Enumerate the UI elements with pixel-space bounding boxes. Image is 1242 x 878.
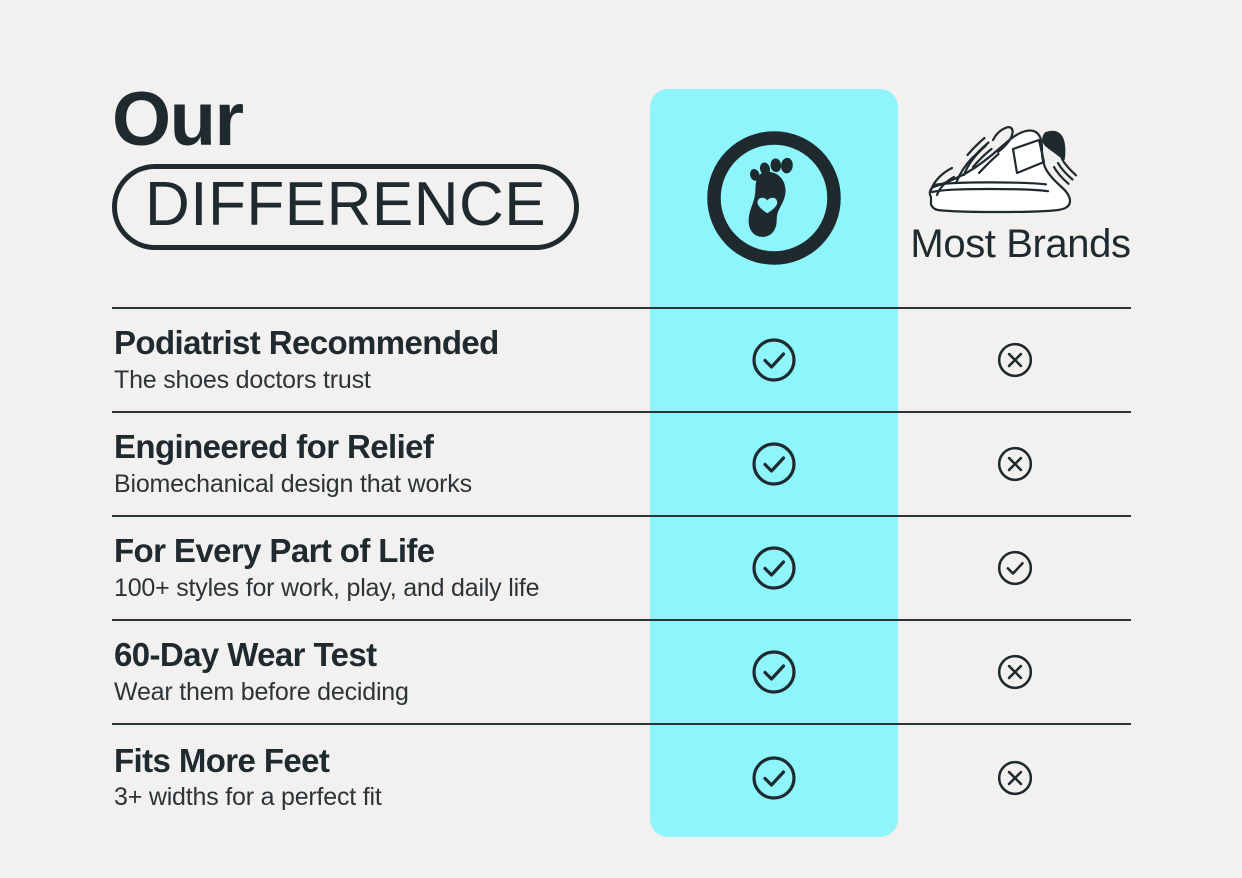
comparison-page: Our DIFFERENCE bbox=[0, 0, 1242, 878]
comparison-header: Our DIFFERENCE bbox=[0, 0, 1242, 307]
check-circle-icon bbox=[750, 754, 798, 802]
brand-result-cell bbox=[650, 336, 898, 384]
feature-subtitle: The shoes doctors trust bbox=[114, 365, 634, 395]
comparison-row: 60-Day Wear TestWear them before decidin… bbox=[112, 619, 1131, 723]
title-pill-outline: DIFFERENCE bbox=[112, 164, 579, 250]
brand-result-cell bbox=[650, 754, 898, 802]
competitor-result-cell bbox=[898, 653, 1131, 691]
comparison-row: For Every Part of Life100+ styles for wo… bbox=[112, 515, 1131, 619]
brand-result-cell bbox=[650, 544, 898, 592]
title-line-our: Our bbox=[112, 84, 572, 156]
x-circle-icon bbox=[996, 445, 1034, 483]
feature-title: 60-Day Wear Test bbox=[114, 637, 634, 674]
footprint-in-circle-icon bbox=[699, 123, 849, 273]
feature-title: Podiatrist Recommended bbox=[114, 325, 634, 362]
competitor-result-cell bbox=[898, 445, 1131, 483]
feature-subtitle: 100+ styles for work, play, and daily li… bbox=[114, 573, 634, 603]
feature-cell: Podiatrist RecommendedThe shoes doctors … bbox=[112, 325, 650, 395]
x-circle-icon bbox=[996, 759, 1034, 797]
comparison-row: Fits More Feet3+ widths for a perfect fi… bbox=[112, 723, 1131, 830]
check-circle-icon bbox=[750, 336, 798, 384]
competitor-header: Most Brands bbox=[898, 89, 1143, 307]
check-circle-icon bbox=[996, 549, 1034, 587]
title-line-difference: DIFFERENCE bbox=[145, 174, 546, 236]
feature-cell: For Every Part of Life100+ styles for wo… bbox=[112, 533, 650, 603]
feature-title: For Every Part of Life bbox=[114, 533, 634, 570]
competitor-result-cell bbox=[898, 549, 1131, 587]
x-circle-icon bbox=[996, 653, 1034, 691]
feature-subtitle: 3+ widths for a perfect fit bbox=[114, 782, 634, 812]
feature-cell: Engineered for ReliefBiomechanical desig… bbox=[112, 429, 650, 499]
feature-subtitle: Biomechanical design that works bbox=[114, 469, 634, 499]
feature-cell: 60-Day Wear TestWear them before decidin… bbox=[112, 637, 650, 707]
competitor-result-cell bbox=[898, 341, 1131, 379]
competitor-result-cell bbox=[898, 759, 1131, 797]
brand-result-cell bbox=[650, 648, 898, 696]
check-circle-icon bbox=[750, 648, 798, 696]
feature-subtitle: Wear them before deciding bbox=[114, 677, 634, 707]
brand-result-cell bbox=[650, 440, 898, 488]
comparison-rows: Podiatrist RecommendedThe shoes doctors … bbox=[112, 307, 1131, 830]
page-title: Our DIFFERENCE bbox=[112, 84, 572, 250]
comparison-row: Engineered for ReliefBiomechanical desig… bbox=[112, 411, 1131, 515]
brand-logo bbox=[650, 89, 898, 307]
sneaker-illustration-icon bbox=[921, 97, 1121, 222]
check-circle-icon bbox=[750, 544, 798, 592]
competitor-logo bbox=[921, 97, 1121, 222]
feature-title: Fits More Feet bbox=[114, 743, 634, 780]
comparison-row: Podiatrist RecommendedThe shoes doctors … bbox=[112, 307, 1131, 411]
check-circle-icon bbox=[750, 440, 798, 488]
x-circle-icon bbox=[996, 341, 1034, 379]
feature-title: Engineered for Relief bbox=[114, 429, 634, 466]
competitor-label: Most Brands bbox=[910, 224, 1130, 264]
feature-cell: Fits More Feet3+ widths for a perfect fi… bbox=[112, 743, 650, 813]
